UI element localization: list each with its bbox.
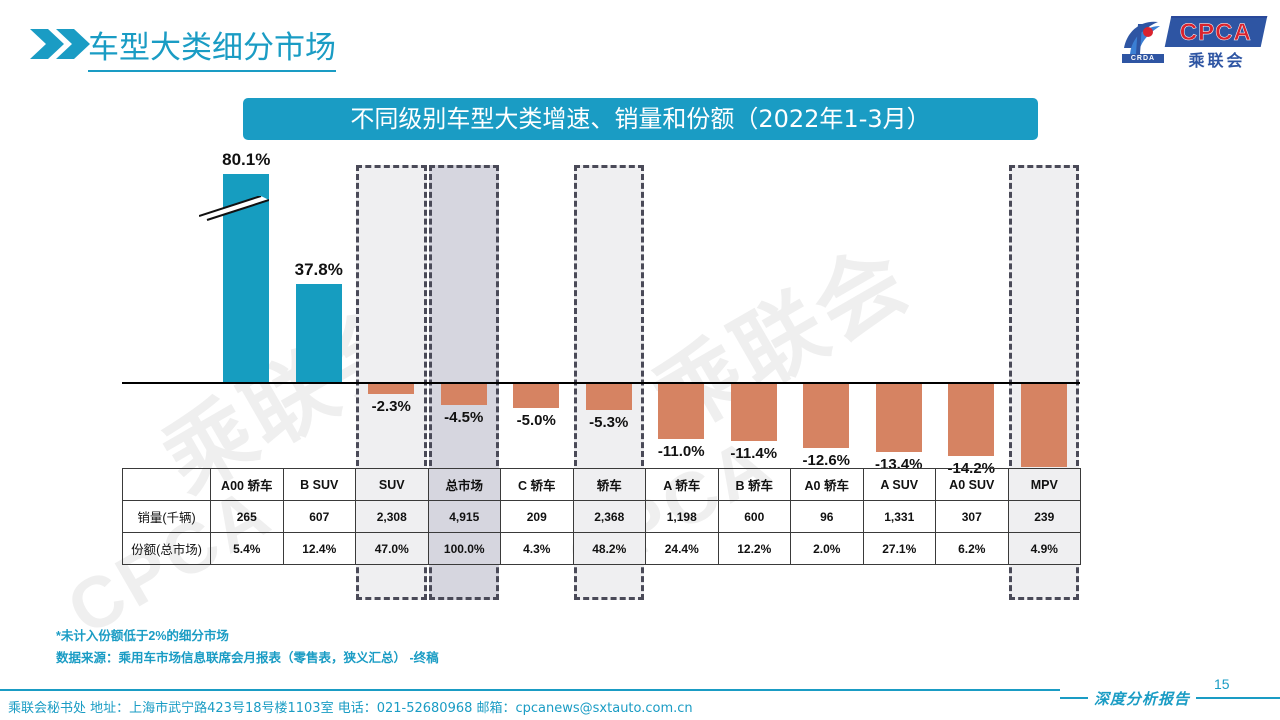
table-cell: 12.2% — [718, 533, 791, 565]
table-cell: 2.0% — [791, 533, 864, 565]
table-column-header: A 轿车 — [646, 469, 719, 501]
footnote-line-2: 数据来源：乘用车市场信息联席会月报表（零售表，狭义汇总） -终稿 — [56, 647, 439, 669]
footer-contact: 乘联会秘书处 地址：上海市武宁路423号18号楼1103室 电话：021-526… — [8, 697, 693, 716]
bar-value-label-B SUV: 37.8% — [269, 260, 369, 280]
bar-轿车 — [586, 382, 632, 410]
bar-A0 轿车 — [803, 382, 849, 448]
table-cell: 47.0% — [356, 533, 429, 565]
table-cell: 27.1% — [863, 533, 936, 565]
table-cell: 4.3% — [501, 533, 574, 565]
axis-break-icon — [199, 196, 269, 222]
footnotes: *未计入份额低于2%的细分市场 数据来源：乘用车市场信息联席会月报表（零售表，狭… — [56, 625, 439, 669]
table-column-header: A0 SUV — [936, 469, 1009, 501]
footer-brand: 深度分析报告 — [1094, 688, 1190, 709]
table-cell: 6.2% — [936, 533, 1009, 565]
table-cell: 2,308 — [356, 501, 429, 533]
footer-dash-left — [1060, 697, 1088, 699]
table-column-header: B SUV — [283, 469, 356, 501]
page-title: 车型大类细分市场 — [88, 22, 336, 72]
table-row: 销量(千辆)2656072,3084,9152092,3681,19860096… — [123, 501, 1081, 533]
table-cell: 1,198 — [646, 501, 719, 533]
table-cell: 1,331 — [863, 501, 936, 533]
table-column-header: SUV — [356, 469, 429, 501]
table-column-header: MPV — [1008, 469, 1081, 501]
logo-latin-text: CPCA — [1168, 18, 1264, 47]
footnote-line-1: *未计入份额低于2%的细分市场 — [56, 625, 439, 647]
logo-latin-plate: CPCA — [1165, 16, 1268, 47]
bar-B SUV — [296, 284, 342, 382]
bar-value-label-A00 轿车: 80.1% — [196, 150, 296, 170]
table-cell: 239 — [1008, 501, 1081, 533]
page-number: 15 — [1214, 676, 1230, 692]
footer-divider — [0, 689, 1060, 691]
table-column-header: C 轿车 — [501, 469, 574, 501]
table-row-label: 销量(千辆) — [123, 501, 211, 533]
table-cell: 24.4% — [646, 533, 719, 565]
table-row-label: 份额(总市场) — [123, 533, 211, 565]
table-cell: 100.0% — [428, 533, 501, 565]
footer-dash-right — [1196, 697, 1280, 699]
double-chevron-right-icon — [30, 27, 92, 61]
table-cell: 48.2% — [573, 533, 646, 565]
table-cell: 5.4% — [211, 533, 284, 565]
table-cell: 209 — [501, 501, 574, 533]
table-column-header: A SUV — [863, 469, 936, 501]
bar-value-label-轿车: -5.3% — [559, 414, 659, 431]
table-cell: 2,368 — [573, 501, 646, 533]
table-header-row: A00 轿车B SUVSUV总市场C 轿车轿车A 轿车B 轿车A0 轿车A SU… — [123, 469, 1081, 501]
bar-A 轿车 — [658, 382, 704, 439]
table-cell: 4,915 — [428, 501, 501, 533]
logo-sub-text: CRDA — [1122, 54, 1164, 63]
bar-B 轿车 — [731, 382, 777, 441]
bar-A0 SUV — [948, 382, 994, 456]
table-cell: 600 — [718, 501, 791, 533]
data-table: A00 轿车B SUVSUV总市场C 轿车轿车A 轿车B 轿车A0 轿车A SU… — [122, 468, 1081, 565]
table-cell: 307 — [936, 501, 1009, 533]
table-cell: 607 — [283, 501, 356, 533]
table-column-header: B 轿车 — [718, 469, 791, 501]
table-cell: 12.4% — [283, 533, 356, 565]
table-column-header: 轿车 — [573, 469, 646, 501]
logo-chinese-text: 乘联会 — [1170, 47, 1264, 71]
table-cell: 265 — [211, 501, 284, 533]
table-column-header: A00 轿车 — [211, 469, 284, 501]
bar-C 轿车 — [513, 382, 559, 408]
table-row: 份额(总市场)5.4%12.4%47.0%100.0%4.3%48.2%24.4… — [123, 533, 1081, 565]
chart-title-banner: 不同级别车型大类增速、销量和份额（2022年1-3月） — [243, 98, 1038, 140]
table-corner-cell — [123, 469, 211, 501]
bar-A SUV — [876, 382, 922, 452]
bar-总市场 — [441, 382, 487, 405]
table-cell: 4.9% — [1008, 533, 1081, 565]
cpca-logo: CRDA CPCA 乘联会 — [1118, 14, 1266, 72]
bar-MPV — [1021, 382, 1067, 467]
zero-axis-line — [122, 382, 1080, 384]
table-cell: 96 — [791, 501, 864, 533]
slide-header: 车型大类细分市场 CRDA CPCA 乘联会 — [0, 0, 1280, 84]
table-column-header: 总市场 — [428, 469, 501, 501]
table-column-header: A0 轿车 — [791, 469, 864, 501]
